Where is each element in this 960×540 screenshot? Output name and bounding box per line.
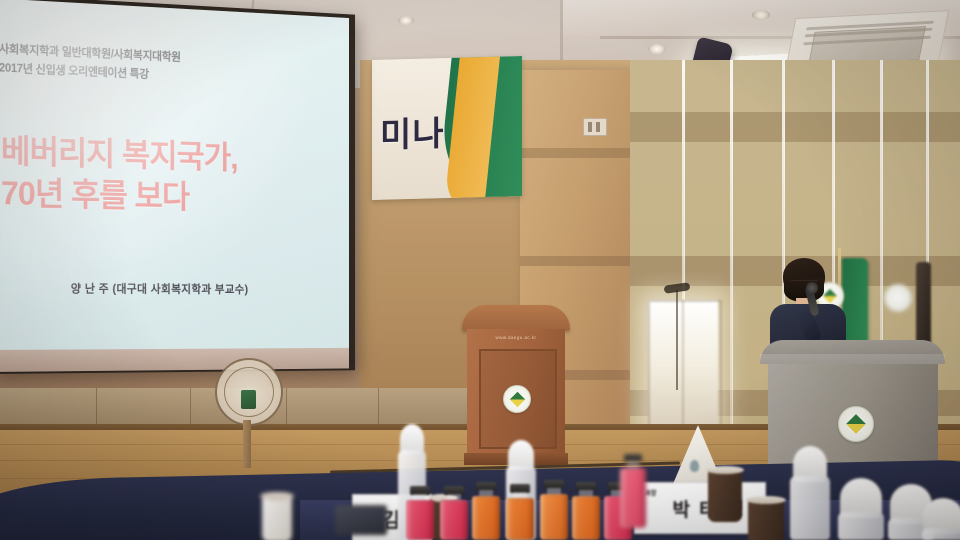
recessed-downlight-icon bbox=[398, 16, 414, 25]
projection-screen: 사회복지학과 일반대학원/사회복지대학원 2017년 신입생 오리엔테이션 특강… bbox=[0, 0, 349, 350]
slide-header: 사회복지학과 일반대학원/사회복지대학원 2017년 신입생 오리엔테이션 특강 bbox=[0, 40, 306, 91]
window-light bbox=[648, 300, 718, 430]
juice-bottle bbox=[620, 454, 646, 528]
microphone-stand bbox=[676, 290, 678, 390]
banner-text: 미나 bbox=[380, 106, 445, 157]
paper-cup bbox=[262, 496, 292, 540]
university-diamond-emblem bbox=[838, 406, 874, 442]
recessed-downlight-icon bbox=[752, 10, 770, 20]
recessed-downlight-icon bbox=[648, 44, 666, 54]
juice-bottle bbox=[540, 480, 568, 540]
water-bottle bbox=[922, 498, 960, 540]
seal-leaf-icon bbox=[241, 390, 256, 409]
juice-bottle bbox=[572, 482, 600, 540]
dark-object bbox=[335, 505, 387, 535]
seal-post bbox=[243, 420, 251, 468]
podium-lip bbox=[760, 354, 945, 364]
slide-title-line2: 70년 후를 보다 bbox=[1, 173, 326, 221]
slide-presenter: 양 난 주 (대구대 사회복지학과 부교수) bbox=[71, 281, 336, 298]
lectern-top bbox=[462, 305, 570, 331]
nameplate: …과장 박 태 영 bbox=[634, 482, 766, 534]
seminar-banner: 미나 bbox=[372, 56, 522, 200]
paper-cup bbox=[708, 470, 742, 522]
slide-title: 베버리지 복지국가, 70년 후를 보다 bbox=[1, 130, 326, 220]
wall-logo-icon bbox=[884, 284, 912, 312]
juice-bottle bbox=[406, 486, 434, 540]
paper-cup bbox=[748, 500, 784, 540]
juice-bottle bbox=[440, 486, 468, 540]
wall-outlet-icon bbox=[583, 118, 607, 136]
juice-bottle bbox=[506, 484, 534, 540]
lectern-url-text: www.daegu.ac.kr bbox=[462, 335, 570, 340]
university-diamond-emblem bbox=[503, 385, 531, 413]
microphone-head bbox=[806, 282, 818, 294]
university-seal-icon bbox=[215, 358, 283, 426]
water-bottle bbox=[790, 446, 830, 540]
juice-bottle bbox=[472, 482, 500, 540]
projection-screen-frame: 사회복지학과 일반대학원/사회복지대학원 2017년 신입생 오리엔테이션 특강… bbox=[0, 0, 355, 374]
screen-bottom-band bbox=[0, 348, 349, 372]
university-seal-stand bbox=[215, 358, 289, 468]
lecture-hall-photo: 미나 사회복지학과 일반대학원/사회복지대학원 2017년 신입생 오리엔테이션… bbox=[0, 0, 960, 540]
water-bottle bbox=[838, 478, 884, 540]
tent-card-logo-icon bbox=[690, 460, 699, 472]
